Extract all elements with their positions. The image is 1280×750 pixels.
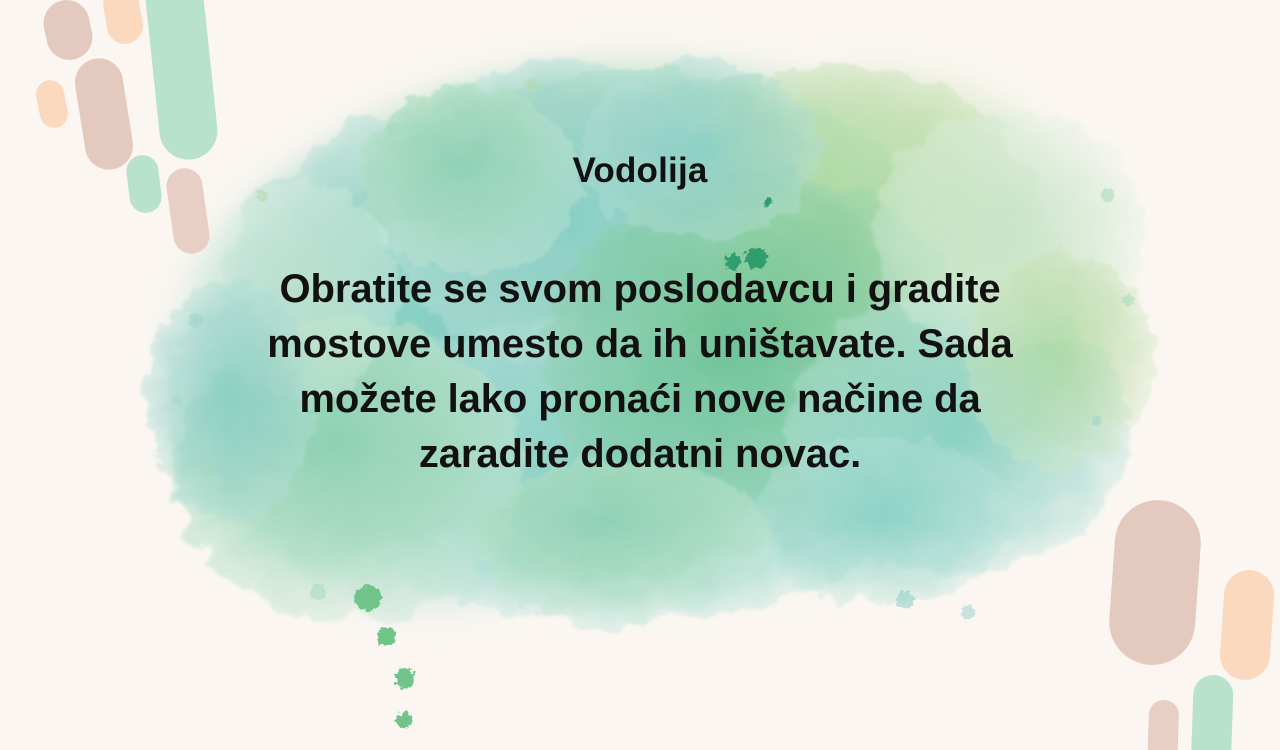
horoscope-line: zaradite dodatni novac.: [190, 427, 1090, 482]
horoscope-text-block: Obratite se svom poslodavcu i gradite mo…: [190, 262, 1090, 482]
text-layer: Vodolija Obratite se svom poslodavcu i g…: [0, 0, 1280, 750]
horoscope-line: mostove umesto da ih uništavate. Sada: [190, 317, 1090, 372]
horoscope-card: Vodolija Obratite se svom poslodavcu i g…: [0, 0, 1280, 750]
horoscope-line: možete lako pronaći nove načine da: [190, 372, 1090, 427]
horoscope-line: Obratite se svom poslodavcu i gradite: [190, 262, 1090, 317]
zodiac-sign-title: Vodolija: [0, 152, 1280, 191]
